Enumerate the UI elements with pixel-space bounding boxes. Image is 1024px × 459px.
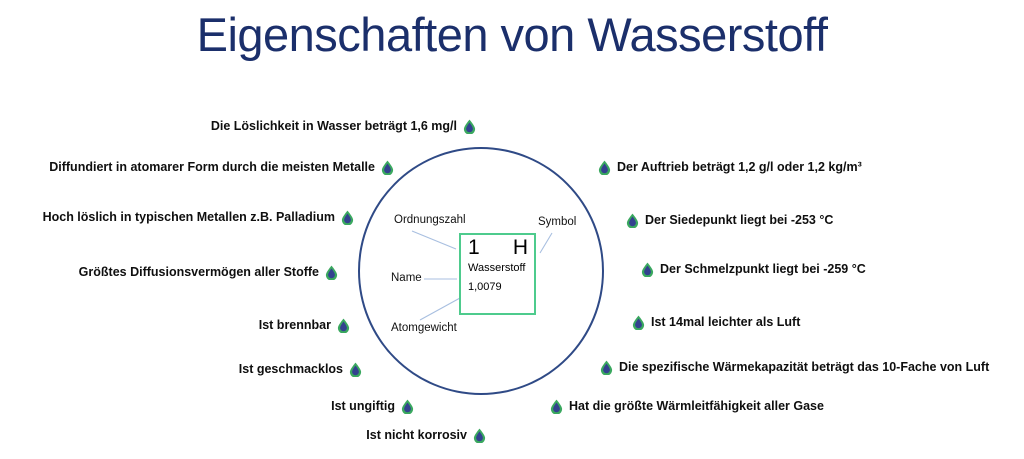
property-item-left-4: Ist brennbar	[259, 318, 350, 333]
property-item-left-2: Hoch löslich in typischen Metallen z.B. …	[43, 210, 354, 225]
property-item-left-7: Ist nicht korrosiv	[366, 428, 486, 443]
element-card-top-row: 1 H	[461, 235, 534, 260]
callout-label-atomgewicht: Atomgewicht	[391, 322, 457, 336]
water-droplet-icon	[473, 428, 486, 443]
water-droplet-icon	[325, 265, 338, 280]
property-label: Die Löslichkeit in Wasser beträgt 1,6 mg…	[211, 119, 457, 134]
property-label: Der Siedepunkt liegt bei -253 °C	[645, 213, 833, 228]
property-item-right-0: Der Auftrieb beträgt 1,2 g/l oder 1,2 kg…	[598, 160, 862, 175]
page-title: Eigenschaften von Wasserstoff	[0, 8, 1024, 62]
water-droplet-icon	[401, 399, 414, 414]
property-item-left-1: Diffundiert in atomarer Form durch die m…	[49, 160, 394, 175]
property-label: Ist ungiftig	[331, 399, 395, 414]
property-item-right-4: Die spezifische Wärmekapazität beträgt d…	[600, 360, 989, 375]
element-atomic-number: 1	[468, 236, 480, 260]
property-label: Der Schmelzpunkt liegt bei -259 °C	[660, 262, 866, 277]
water-droplet-icon	[381, 160, 394, 175]
property-label: Der Auftrieb beträgt 1,2 g/l oder 1,2 kg…	[617, 160, 862, 175]
element-atomic-weight: 1,0079	[461, 275, 534, 294]
water-droplet-icon	[550, 399, 563, 414]
callout-label-name: Name	[391, 272, 422, 286]
property-label: Größtes Diffusionsvermögen aller Stoffe	[79, 265, 319, 280]
element-symbol: H	[513, 236, 528, 260]
water-droplet-icon	[598, 160, 611, 175]
property-item-left-5: Ist geschmacklos	[239, 362, 362, 377]
property-item-right-1: Der Siedepunkt liegt bei -253 °C	[626, 213, 833, 228]
water-droplet-icon	[632, 315, 645, 330]
callout-label-symbol: Symbol	[538, 216, 576, 230]
water-droplet-icon	[600, 360, 613, 375]
property-item-left-6: Ist ungiftig	[331, 399, 414, 414]
water-droplet-icon	[337, 318, 350, 333]
property-item-right-2: Der Schmelzpunkt liegt bei -259 °C	[641, 262, 866, 277]
property-label: Ist geschmacklos	[239, 362, 343, 377]
water-droplet-icon	[349, 362, 362, 377]
element-card: 1 H Wasserstoff 1,0079	[459, 233, 536, 315]
water-droplet-icon	[626, 213, 639, 228]
property-label: Die spezifische Wärmekapazität beträgt d…	[619, 360, 989, 375]
property-item-right-5: Hat die größte Wärmleitfähigkeit aller G…	[550, 399, 824, 414]
water-droplet-icon	[463, 119, 476, 134]
property-item-right-3: Ist 14mal leichter als Luft	[632, 315, 800, 330]
property-label: Ist nicht korrosiv	[366, 428, 467, 443]
property-item-left-3: Größtes Diffusionsvermögen aller Stoffe	[79, 265, 338, 280]
water-droplet-icon	[341, 210, 354, 225]
property-label: Ist brennbar	[259, 318, 331, 333]
callout-label-ordnungszahl: Ordnungszahl	[394, 214, 466, 228]
water-droplet-icon	[641, 262, 654, 277]
element-name: Wasserstoff	[461, 260, 534, 275]
property-item-left-0: Die Löslichkeit in Wasser beträgt 1,6 mg…	[211, 119, 476, 134]
property-label: Hoch löslich in typischen Metallen z.B. …	[43, 210, 335, 225]
property-label: Diffundiert in atomarer Form durch die m…	[49, 160, 375, 175]
property-label: Ist 14mal leichter als Luft	[651, 315, 800, 330]
property-label: Hat die größte Wärmleitfähigkeit aller G…	[569, 399, 824, 414]
